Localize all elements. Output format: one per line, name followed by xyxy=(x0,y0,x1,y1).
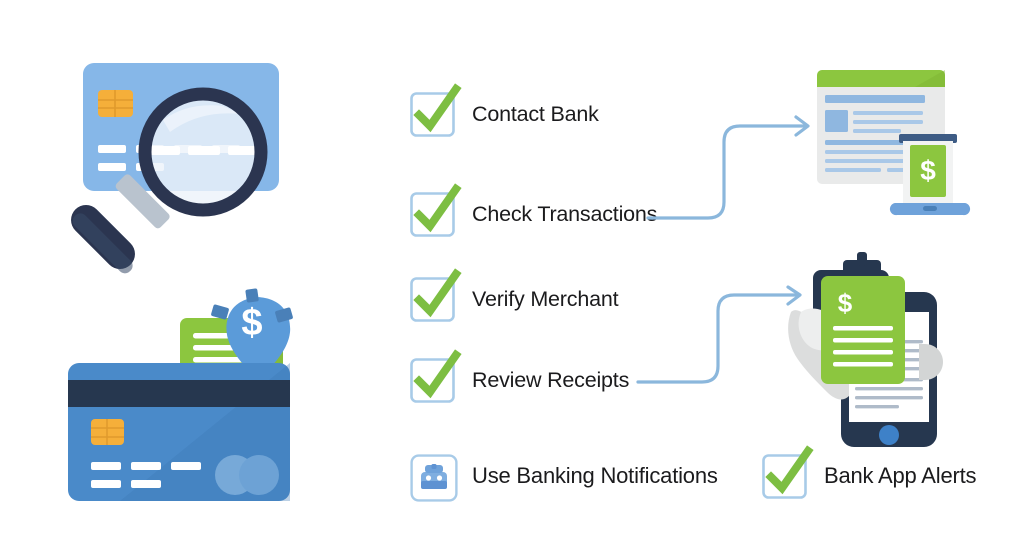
card-magnifier-svg xyxy=(60,50,310,290)
checklist-item-check-transactions[interactable]: Check Transactions xyxy=(410,192,657,236)
checklist-label: Contact Bank xyxy=(472,102,599,127)
checklist-label: Check Transactions xyxy=(472,202,657,227)
checklist-item-use-banking-notifications[interactable]: Use Banking Notifications xyxy=(410,454,718,498)
magnified-number-lines xyxy=(148,146,260,155)
notification-robot-icon[interactable] xyxy=(410,454,454,498)
checklist-item-review-receipts[interactable]: Review Receipts xyxy=(410,358,629,402)
infographic-canvas: $ xyxy=(0,0,1024,559)
phone-receipt-illustration: $ xyxy=(783,250,1015,455)
checklist-item-bank-app-alerts[interactable]: Bank App Alerts xyxy=(762,454,976,498)
checklist-label: Use Banking Notifications xyxy=(472,463,718,489)
browser-payment-illustration: $ xyxy=(795,62,1015,234)
credit-card xyxy=(68,363,290,501)
checklist-label: Review Receipts xyxy=(472,368,629,393)
chip-icon xyxy=(98,90,133,117)
checkbox-checked-icon[interactable] xyxy=(410,277,454,321)
phone-receipt-svg: $ xyxy=(783,250,1015,455)
card-document-illustration: $ xyxy=(60,285,322,510)
chip-icon xyxy=(91,419,124,445)
dollar-symbol: $ xyxy=(920,155,936,186)
browser-payment-svg: $ xyxy=(795,62,1015,234)
card-document-svg: $ xyxy=(60,285,322,510)
checkbox-checked-icon[interactable] xyxy=(410,92,454,136)
checkbox-checked-icon[interactable] xyxy=(410,358,454,402)
checkbox-checked-icon[interactable] xyxy=(762,454,806,498)
image-placeholder xyxy=(825,110,848,132)
card-logo-circles xyxy=(215,455,279,495)
checklist-item-contact-bank[interactable]: Contact Bank xyxy=(410,92,599,136)
pin-dollar-symbol: $ xyxy=(241,302,262,344)
checklist-label: Bank App Alerts xyxy=(824,463,976,489)
home-button xyxy=(879,425,899,445)
checklist-item-verify-merchant[interactable]: Verify Merchant xyxy=(410,277,618,321)
checklist-label: Verify Merchant xyxy=(472,287,618,312)
card-magnifier-illustration xyxy=(60,50,310,290)
checkbox-checked-icon[interactable] xyxy=(410,192,454,236)
magnetic-stripe xyxy=(68,380,290,407)
dollar-symbol: $ xyxy=(838,288,853,318)
